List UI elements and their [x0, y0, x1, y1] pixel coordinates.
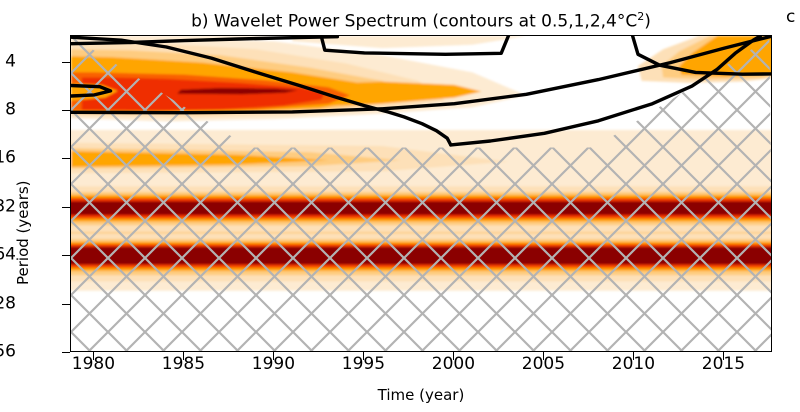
next-panel-label: c: [786, 6, 795, 28]
x-axis-label: Time (year): [70, 386, 772, 404]
chart-title-tail: ): [644, 12, 651, 32]
chart-title-main: b) Wavelet Power Spectrum (contours at 0…: [191, 12, 637, 32]
y-tick-mark-16: [62, 158, 70, 159]
x-tick-mark-2015: [723, 352, 724, 360]
wavelet-power-spectrum-plot: [70, 35, 772, 352]
y-tick-label-8: 8: [5, 102, 16, 119]
figure-panel-b: b) Wavelet Power Spectrum (contours at 0…: [0, 0, 800, 412]
x-tick-mark-1980: [93, 352, 94, 360]
x-tick-mark-2005: [543, 352, 544, 360]
y-tick-mark-256: [62, 352, 70, 353]
x-tick-mark-1990: [273, 352, 274, 360]
y-tick-label-4: 4: [5, 53, 16, 70]
y-tick-label-256: 256: [0, 344, 16, 361]
y-tick-label-64: 64: [0, 247, 16, 264]
y-tick-mark-32: [62, 207, 70, 208]
x-tick-mark-2000: [453, 352, 454, 360]
y-axis-label: Period (years): [14, 180, 32, 285]
x-tick-mark-2010: [633, 352, 634, 360]
plot-canvas: [71, 36, 771, 351]
y-tick-label-16: 16: [0, 150, 16, 167]
x-tick-mark-1995: [363, 352, 364, 360]
y-tick-label-32: 32: [0, 198, 16, 215]
chart-title: b) Wavelet Power Spectrum (contours at 0…: [70, 6, 772, 33]
y-tick-mark-64: [62, 255, 70, 256]
power-field: [71, 36, 771, 351]
x-tick-mark-1985: [183, 352, 184, 360]
y-tick-label-128: 128: [0, 295, 16, 312]
y-tick-mark-128: [62, 304, 70, 305]
y-tick-mark-8: [62, 110, 70, 111]
y-tick-mark-4: [62, 62, 70, 63]
